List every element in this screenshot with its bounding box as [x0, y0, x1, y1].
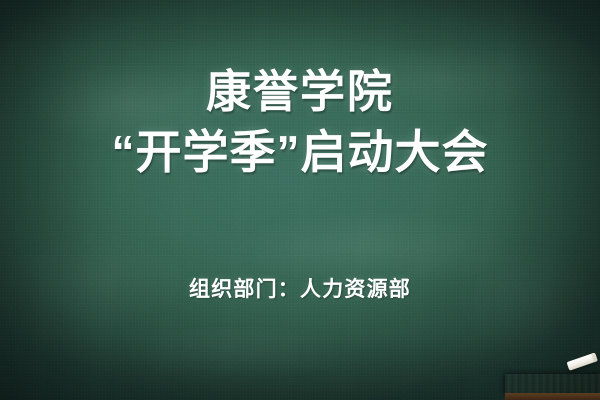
chalkboard-slide: 康誉学院 “开学季”启动大会 组织部门：人力资源部	[0, 0, 600, 400]
ledge-wood-grain	[505, 374, 600, 395]
slide-title: 康誉学院 “开学季”启动大会	[0, 62, 600, 182]
chalk-ledge-base	[505, 393, 600, 400]
chalk-ledge-icon	[505, 374, 600, 395]
title-line-2: “开学季”启动大会	[0, 122, 600, 182]
title-line-1: 康誉学院	[0, 62, 600, 122]
slide-content: 康誉学院 “开学季”启动大会 组织部门：人力资源部	[0, 0, 600, 400]
slide-subtitle: 组织部门：人力资源部	[0, 277, 600, 303]
